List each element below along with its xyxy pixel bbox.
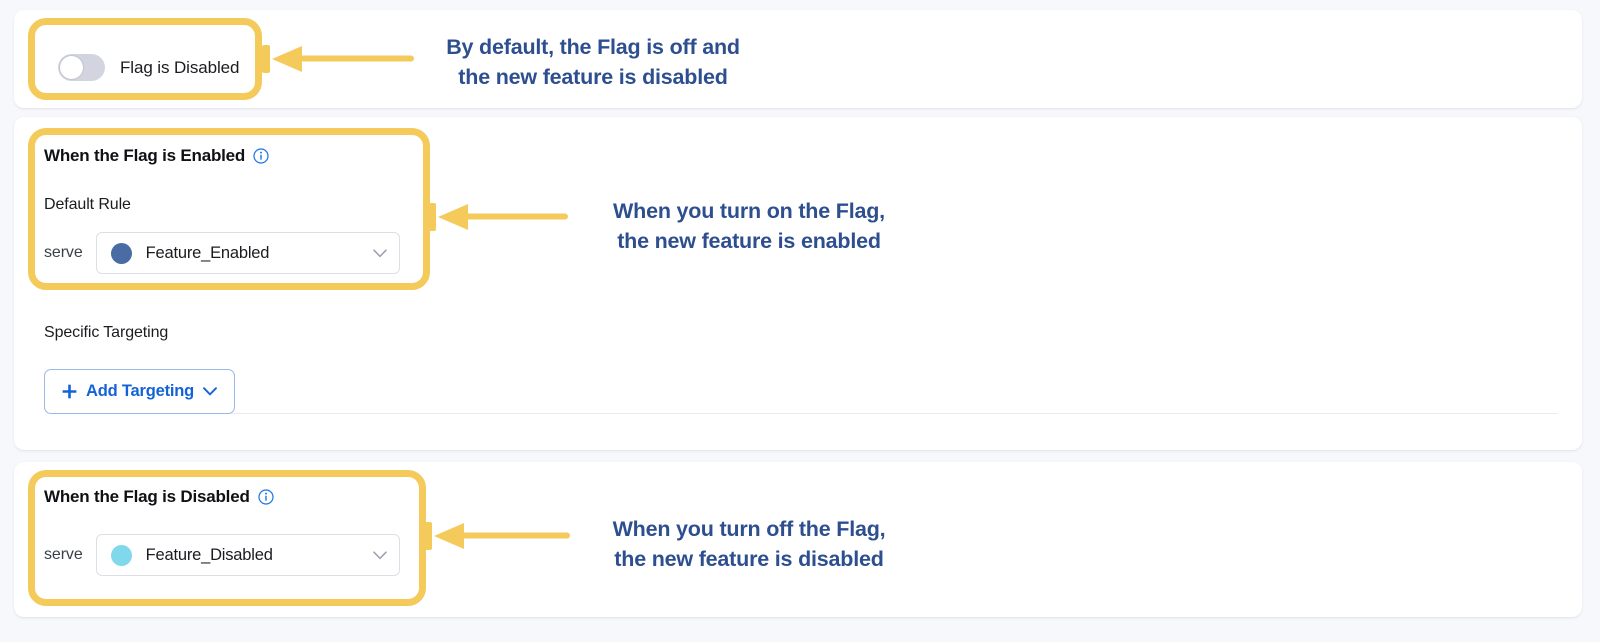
specific-targeting-label: Specific Targeting — [44, 324, 168, 342]
annotation-text-toggle: By default, the Flag is off and the new … — [413, 32, 773, 92]
toggle-knob — [59, 55, 84, 80]
annotation-arrow-disabled — [424, 522, 570, 550]
enabled-section-heading: When the Flag is Enabled — [44, 146, 269, 166]
disabled-variation-value: Feature_Disabled — [146, 546, 359, 565]
add-targeting-button[interactable]: Add Targeting — [44, 369, 235, 414]
flag-toggle-switch[interactable] — [58, 54, 105, 81]
disabled-variation-dropdown[interactable]: Feature_Disabled — [96, 534, 400, 576]
enabled-heading-text: When the Flag is Enabled — [44, 146, 245, 166]
chevron-down-icon — [203, 387, 217, 396]
annotation-arrow-toggle — [262, 45, 414, 73]
annotation-text-enabled: When you turn on the Flag, the new featu… — [584, 196, 914, 256]
feature-flag-settings-page: Flag is Disabled By default, the Flag is… — [0, 0, 1600, 642]
default-rule-label: Default Rule — [44, 196, 131, 214]
section-divider — [58, 413, 1558, 414]
enabled-variation-dropdown[interactable]: Feature_Enabled — [96, 232, 400, 274]
enabled-serve-row: serve Feature_Enabled — [44, 232, 400, 274]
flag-toggle-card: Flag is Disabled — [14, 10, 1582, 108]
serve-label: serve — [44, 244, 83, 262]
info-icon[interactable] — [258, 489, 274, 505]
disabled-serve-row: serve Feature_Disabled — [44, 534, 400, 576]
add-targeting-label: Add Targeting — [86, 382, 194, 401]
variation-color-dot — [111, 243, 132, 264]
chevron-down-icon — [373, 249, 387, 258]
serve-label: serve — [44, 546, 83, 564]
flag-toggle-label: Flag is Disabled — [120, 58, 239, 78]
info-icon[interactable] — [253, 148, 269, 164]
flag-enabled-card — [14, 117, 1582, 450]
plus-icon — [62, 384, 77, 399]
annotation-arrow-enabled — [428, 203, 568, 231]
annotation-text-disabled: When you turn off the Flag, the new feat… — [584, 514, 914, 574]
flag-toggle-row[interactable]: Flag is Disabled — [58, 54, 239, 81]
variation-color-dot — [111, 545, 132, 566]
enabled-variation-value: Feature_Enabled — [146, 244, 359, 263]
disabled-heading-text: When the Flag is Disabled — [44, 487, 250, 507]
chevron-down-icon — [373, 551, 387, 560]
disabled-section-heading: When the Flag is Disabled — [44, 487, 274, 507]
